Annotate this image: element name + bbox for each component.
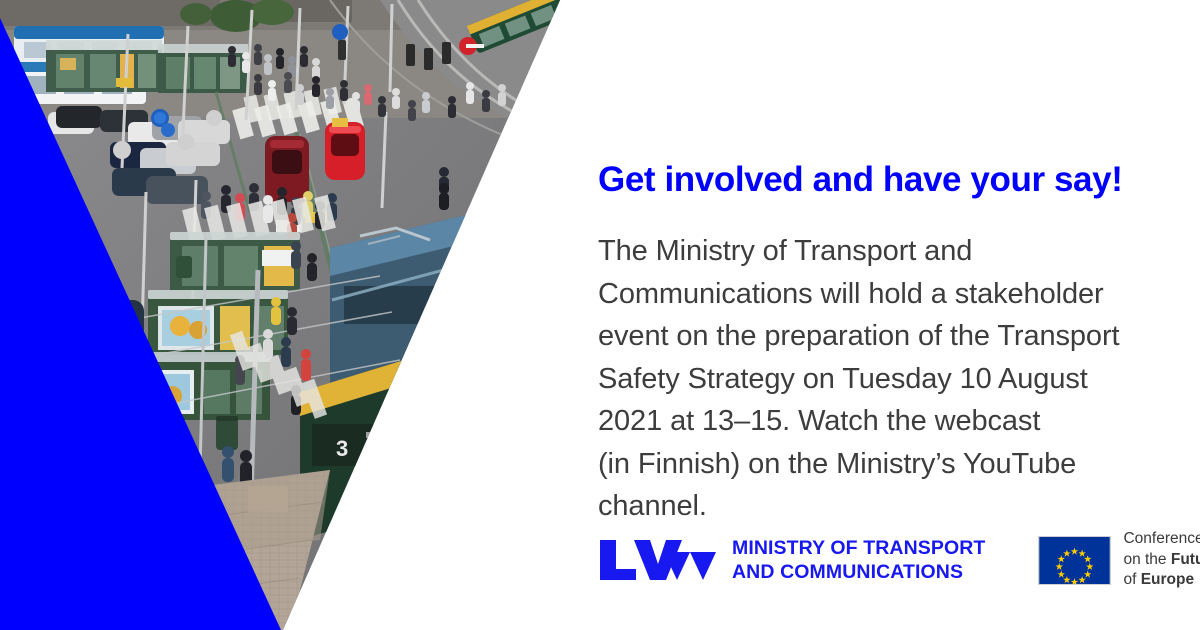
conference-line-2: on the Future: [1123, 550, 1200, 571]
conference-line-2-bold: Future: [1171, 551, 1200, 568]
logo-row: MINISTRY OF TRANSPORT AND COMMUNICATIONS: [598, 520, 1200, 600]
body-line-2: Communications will hold a stakeholder: [598, 273, 1188, 316]
body-line-1: The Ministry of Transport and: [598, 230, 1188, 273]
content-column: Get involved and have your say! The Mini…: [598, 0, 1200, 630]
lvm-wordmark: MINISTRY OF TRANSPORT AND COMMUNICATIONS: [732, 536, 985, 584]
lvm-logo: MINISTRY OF TRANSPORT AND COMMUNICATIONS: [598, 536, 985, 584]
eu-flag-icon: [1038, 536, 1111, 585]
lvm-wordmark-line-2: AND COMMUNICATIONS: [732, 560, 985, 584]
banner-canvas: 3: [0, 0, 1200, 630]
body-line-5: 2021 at 13–15. Watch the webcast: [598, 400, 1188, 443]
lvm-logomark-icon: [598, 538, 718, 582]
body-line-3: event on the preparation of the Transpor…: [598, 315, 1188, 358]
conference-line-3-plain: of: [1123, 571, 1140, 588]
conference-future-europe-logo: Conference on the Future of Europe: [1038, 529, 1200, 591]
svg-text:3: 3: [336, 436, 348, 461]
conference-line-1: Conference: [1123, 529, 1200, 550]
lvm-wordmark-line-1: MINISTRY OF TRANSPORT: [732, 536, 985, 560]
conference-line-2-plain: on the: [1123, 551, 1170, 568]
street-photo: 3: [0, 0, 580, 630]
body-line-4: Safety Strategy on Tuesday 10 August: [598, 358, 1188, 401]
conference-wordmark: Conference on the Future of Europe: [1123, 529, 1200, 591]
conference-line-3: of Europe: [1123, 570, 1200, 591]
conference-line-3-bold: Europe: [1141, 571, 1194, 588]
street-photo-illustration: 3: [0, 0, 580, 630]
body-line-6: (in Finnish) on the Ministry’s YouTube: [598, 443, 1188, 486]
page-title: Get involved and have your say!: [598, 160, 1158, 199]
body-text: The Ministry of Transport and Communicat…: [598, 230, 1188, 528]
